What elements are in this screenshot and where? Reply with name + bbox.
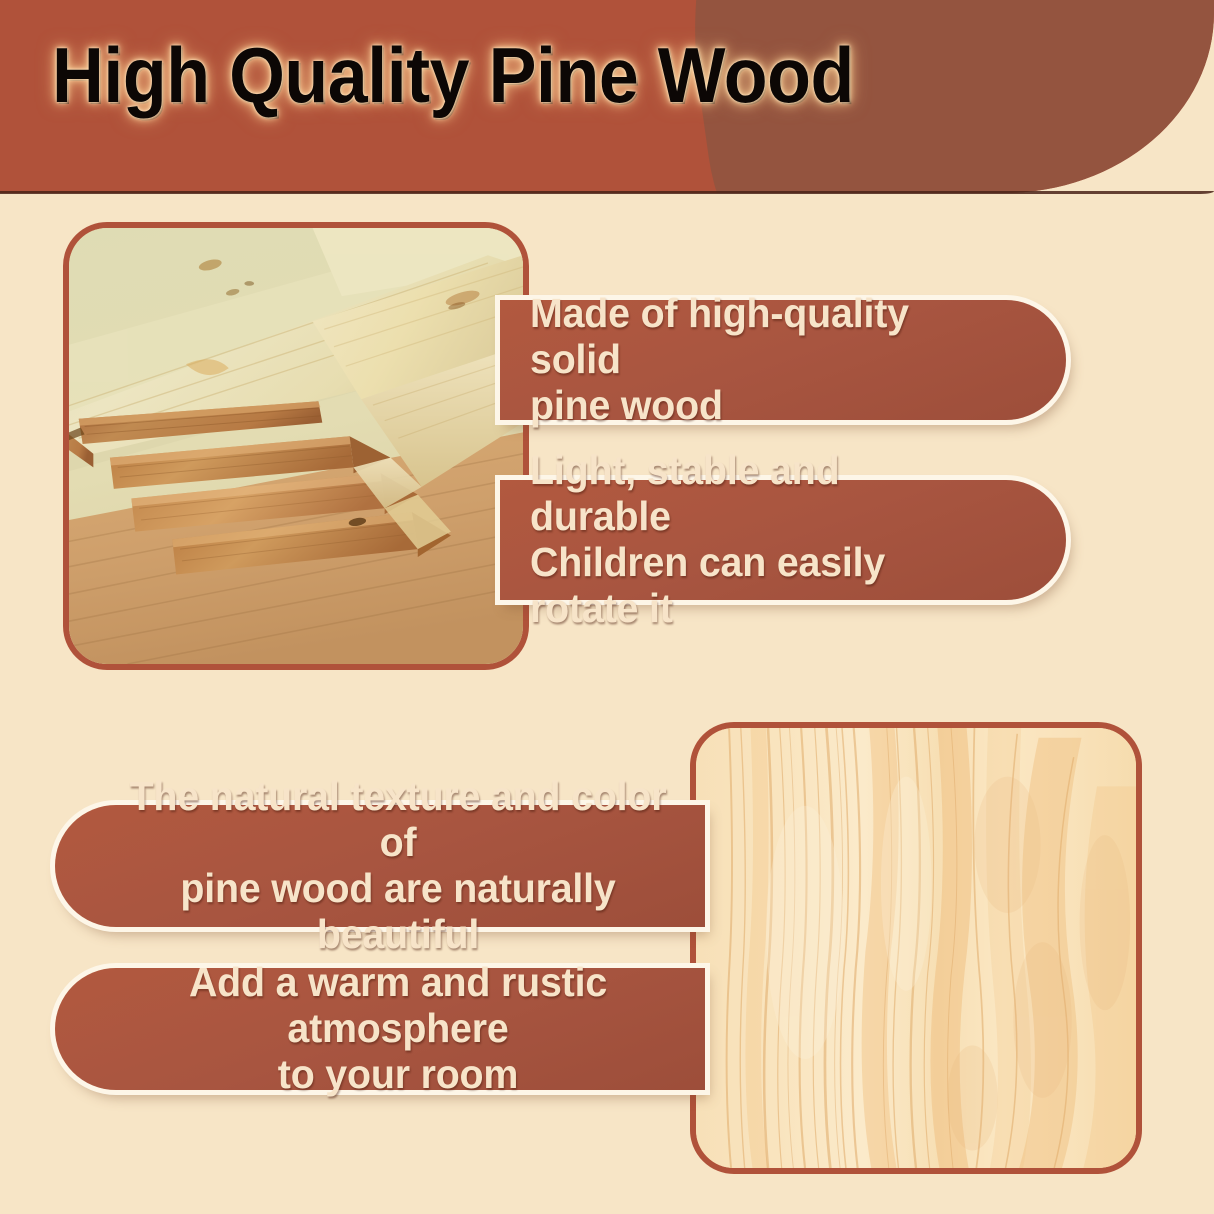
feature-1-line-2: pine wood bbox=[530, 383, 972, 429]
product-infographic: High Quality Pine Wood bbox=[0, 0, 1214, 1214]
feature-3-line-2: pine wood are naturally beautiful bbox=[124, 866, 671, 958]
feature-2-line-1: Light, stable and durable bbox=[530, 448, 972, 540]
feature-callout-3[interactable]: The natural texture and color of pine wo… bbox=[55, 805, 705, 927]
feature-callout-3-text: The natural texture and color of pine wo… bbox=[124, 774, 671, 958]
feature-callout-4[interactable]: Add a warm and rustic atmosphere to your… bbox=[55, 968, 705, 1090]
feature-callout-4-text: Add a warm and rustic atmosphere to your… bbox=[124, 960, 671, 1098]
page-title: High Quality Pine Wood bbox=[52, 36, 854, 114]
feature-1-line-1: Made of high-quality solid bbox=[530, 291, 972, 383]
pine-wood-grain-photo bbox=[690, 722, 1142, 1174]
stacked-pine-boards-illustration bbox=[69, 228, 523, 664]
feature-4-line-1: Add a warm and rustic atmosphere bbox=[124, 960, 671, 1052]
feature-2-line-2: Children can easily rotate it bbox=[530, 540, 972, 632]
feature-callout-1-text: Made of high-quality solid pine wood bbox=[530, 291, 972, 429]
feature-callout-2[interactable]: Light, stable and durable Children can e… bbox=[500, 480, 1066, 600]
feature-callout-1[interactable]: Made of high-quality solid pine wood bbox=[500, 300, 1066, 420]
header-underline bbox=[0, 191, 1214, 194]
feature-callout-2-text: Light, stable and durable Children can e… bbox=[530, 448, 972, 632]
stacked-pine-boards-photo bbox=[63, 222, 529, 670]
feature-4-line-2: to your room bbox=[124, 1052, 671, 1098]
feature-3-line-1: The natural texture and color of bbox=[124, 774, 671, 866]
pine-grain-illustration bbox=[696, 728, 1136, 1168]
